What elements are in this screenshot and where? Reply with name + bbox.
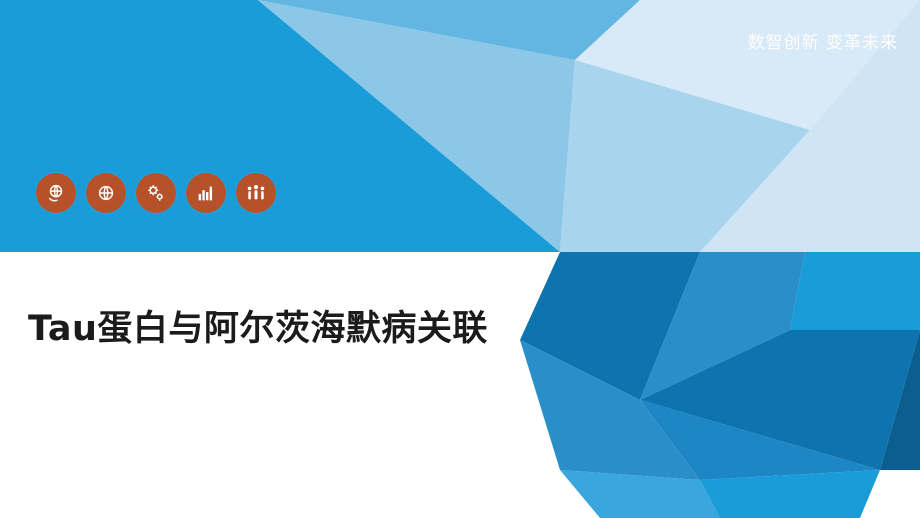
polygon-background-art [0, 0, 920, 518]
bar-chart-icon [186, 173, 226, 213]
gears-icon [136, 173, 176, 213]
icon-badge-row [36, 173, 276, 213]
tagline: 数智创新 变革未来 [748, 28, 898, 53]
presentation-title-slide: 数智创新 变革未来 [0, 0, 920, 518]
people-group-icon [236, 173, 276, 213]
globe-icon [86, 173, 126, 213]
page-title: Tau蛋白与阿尔茨海默病关联 [28, 300, 488, 351]
globe-hand-icon [36, 173, 76, 213]
